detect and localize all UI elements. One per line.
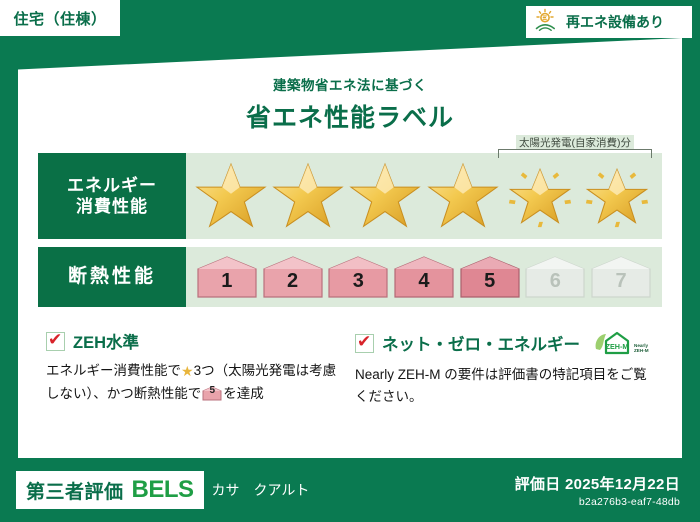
insulation-grade-badge: 2 bbox=[262, 255, 324, 299]
insulation-grade-badge-inactive: 7 bbox=[590, 255, 652, 299]
energy-performance-label: エネルギー 消費性能 bbox=[38, 153, 186, 239]
inner-panel: 建築物省エネ法に基づく 省エネ性能ラベル エネルギー 消費性能 太陽光発電(自家… bbox=[18, 38, 682, 458]
svg-text:ZEH-M: ZEH-M bbox=[606, 342, 629, 351]
check-icon bbox=[46, 332, 65, 351]
evaluation-id: b2a276b3-eaf7-48db bbox=[515, 496, 680, 508]
grade-number: 6 bbox=[550, 270, 561, 299]
energy-label-line2: 消費性能 bbox=[76, 196, 148, 217]
solar-bracket: 太陽光発電(自家消費)分 bbox=[496, 134, 654, 152]
mini-grade-number: 5 bbox=[202, 386, 222, 401]
renewable-badge-label: 再エネ設備あり bbox=[566, 12, 664, 32]
insulation-grade-badge-inactive: 6 bbox=[524, 255, 586, 299]
conclusion-zeh-standard: ZEH水準 エネルギー消費性能で★3つ（太陽光発電は考慮しない）、かつ断熱性能で… bbox=[46, 329, 337, 408]
category-chip: 住宅（住棟） bbox=[0, 0, 120, 36]
category-chip-label: 住宅（住棟） bbox=[13, 8, 106, 29]
zeh-text-part3: を達成 bbox=[223, 386, 264, 401]
renewable-energy-badge: 再エネ設備あり bbox=[526, 6, 692, 38]
insulation-grade-badge: 1 bbox=[196, 255, 258, 299]
insulation-performance-row: 断熱性能 1 bbox=[38, 247, 662, 307]
insulation-grade-badge-achieved: 5 bbox=[459, 255, 521, 299]
bels-jp-label: 第三者評価 bbox=[26, 477, 124, 504]
grade-number: 4 bbox=[418, 270, 429, 299]
grade-number: 5 bbox=[484, 270, 495, 299]
star-icon-inline: ★ bbox=[181, 363, 194, 379]
check-icon bbox=[355, 334, 374, 353]
star-icon-solar bbox=[580, 159, 654, 233]
conclusion-net-zero-energy: ネット・ゼロ・エネルギー ZEH-M Nearly ZEH-M Nearly Z… bbox=[355, 329, 654, 408]
insulation-performance-body: 1 2 bbox=[186, 247, 662, 307]
star-icon-solar bbox=[503, 159, 577, 233]
energy-performance-body: 太陽光発電(自家消費)分 bbox=[186, 153, 662, 239]
star-icon bbox=[426, 159, 500, 233]
mini-grade-badge: 5 bbox=[202, 386, 222, 401]
insulation-grade-group: 1 2 bbox=[186, 247, 662, 307]
bels-logo-text: BELS bbox=[132, 476, 194, 504]
title-block: 建築物省エネ法に基づく 省エネ性能ラベル bbox=[38, 74, 662, 134]
energy-performance-label: 住宅（住棟） 再エネ設備あり bbox=[0, 0, 700, 522]
conclusion-title: ZEH水準 bbox=[73, 329, 139, 353]
conclusion-body: エネルギー消費性能で★3つ（太陽光発電は考慮しない）、かつ断熱性能で5を達成 bbox=[46, 360, 337, 405]
evaluation-date: 評価日 2025年12月22日 bbox=[515, 473, 680, 494]
bels-certification-chip: 第三者評価 BELS bbox=[16, 471, 204, 509]
grade-number: 2 bbox=[287, 270, 298, 299]
grade-number: 3 bbox=[353, 270, 364, 299]
energy-performance-row: エネルギー 消費性能 太陽光発電(自家消費)分 bbox=[38, 153, 662, 239]
footer-meta: 評価日 2025年12月22日 b2a276b3-eaf7-48db bbox=[515, 473, 684, 508]
grade-number: 7 bbox=[616, 270, 627, 299]
star-rating-group bbox=[186, 153, 662, 239]
zeh-text-part1: エネルギー消費性能で bbox=[46, 363, 181, 378]
conclusions-section: ZEH水準 エネルギー消費性能で★3つ（太陽光発電は考慮しない）、かつ断熱性能で… bbox=[38, 329, 662, 408]
conclusion-title: ネット・ゼロ・エネルギー bbox=[382, 331, 580, 355]
star-icon bbox=[271, 159, 345, 233]
insulation-grade-badge: 4 bbox=[393, 255, 455, 299]
svg-text:ZEH-M: ZEH-M bbox=[634, 348, 649, 353]
solar-bracket-label: 太陽光発電(自家消費)分 bbox=[516, 135, 634, 150]
label-subtitle: 建築物省エネ法に基づく bbox=[38, 74, 662, 94]
insulation-performance-label: 断熱性能 bbox=[38, 247, 186, 307]
page-title: 省エネ性能ラベル bbox=[38, 98, 662, 134]
star-icon bbox=[348, 159, 422, 233]
grade-number: 1 bbox=[221, 270, 232, 299]
star-icon bbox=[194, 159, 268, 233]
footer: 第三者評価 BELS カサ クアルト 評価日 2025年12月22日 b2a27… bbox=[0, 458, 700, 522]
solar-sun-icon bbox=[534, 8, 560, 37]
energy-label-line1: エネルギー bbox=[67, 175, 157, 196]
ratings-section: エネルギー 消費性能 太陽光発電(自家消費)分 bbox=[38, 153, 662, 307]
conclusion-body: Nearly ZEH-M の要件は評価書の特記項目をご覧ください。 bbox=[355, 364, 654, 408]
building-name: カサ クアルト bbox=[212, 480, 310, 500]
insulation-grade-badge: 3 bbox=[327, 255, 389, 299]
zeh-m-house-logo: ZEH-M Nearly ZEH-M bbox=[592, 329, 654, 357]
